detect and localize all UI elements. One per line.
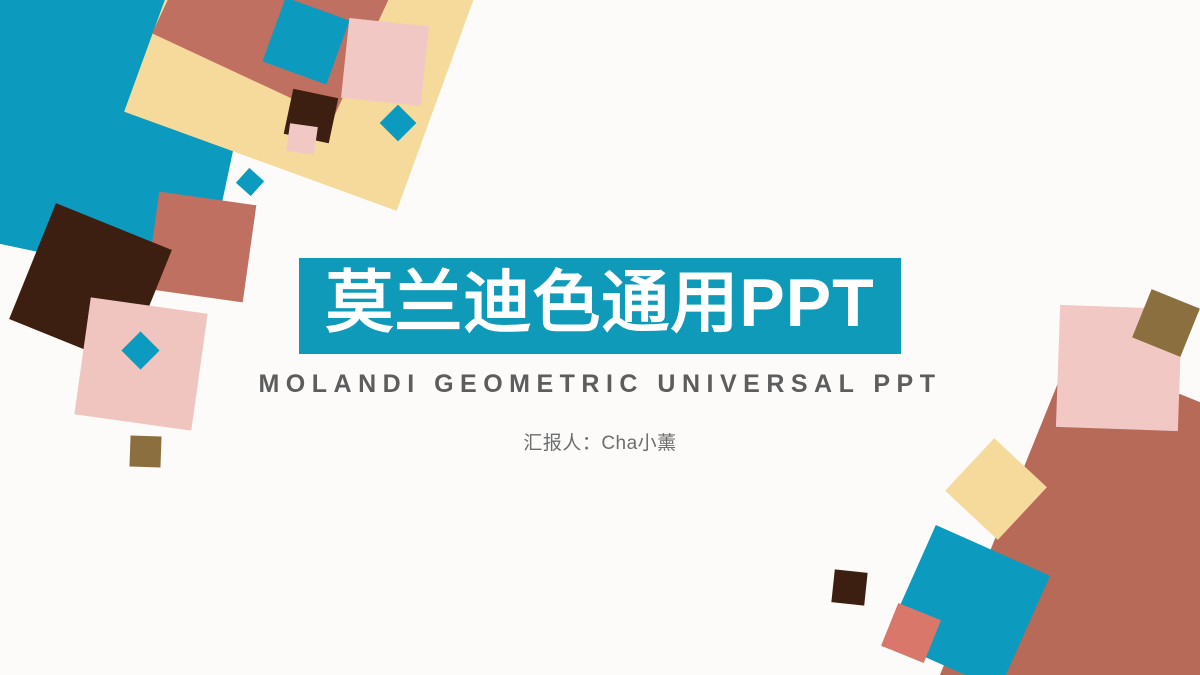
- title-block: 莫兰迪色通用PPT MOLANDI GEOMETRIC UNIVERSAL PP…: [0, 258, 1200, 455]
- subtitle-english: MOLANDI GEOMETRIC UNIVERSAL PPT: [0, 370, 1200, 399]
- slide-title: 莫兰迪色通用PPT: [325, 265, 874, 341]
- presentation-slide: 莫兰迪色通用PPT MOLANDI GEOMETRIC UNIVERSAL PP…: [0, 0, 1200, 675]
- presenter-line: 汇报人：Cha小薰: [0, 428, 1200, 455]
- title-banner: 莫兰迪色通用PPT: [299, 258, 900, 354]
